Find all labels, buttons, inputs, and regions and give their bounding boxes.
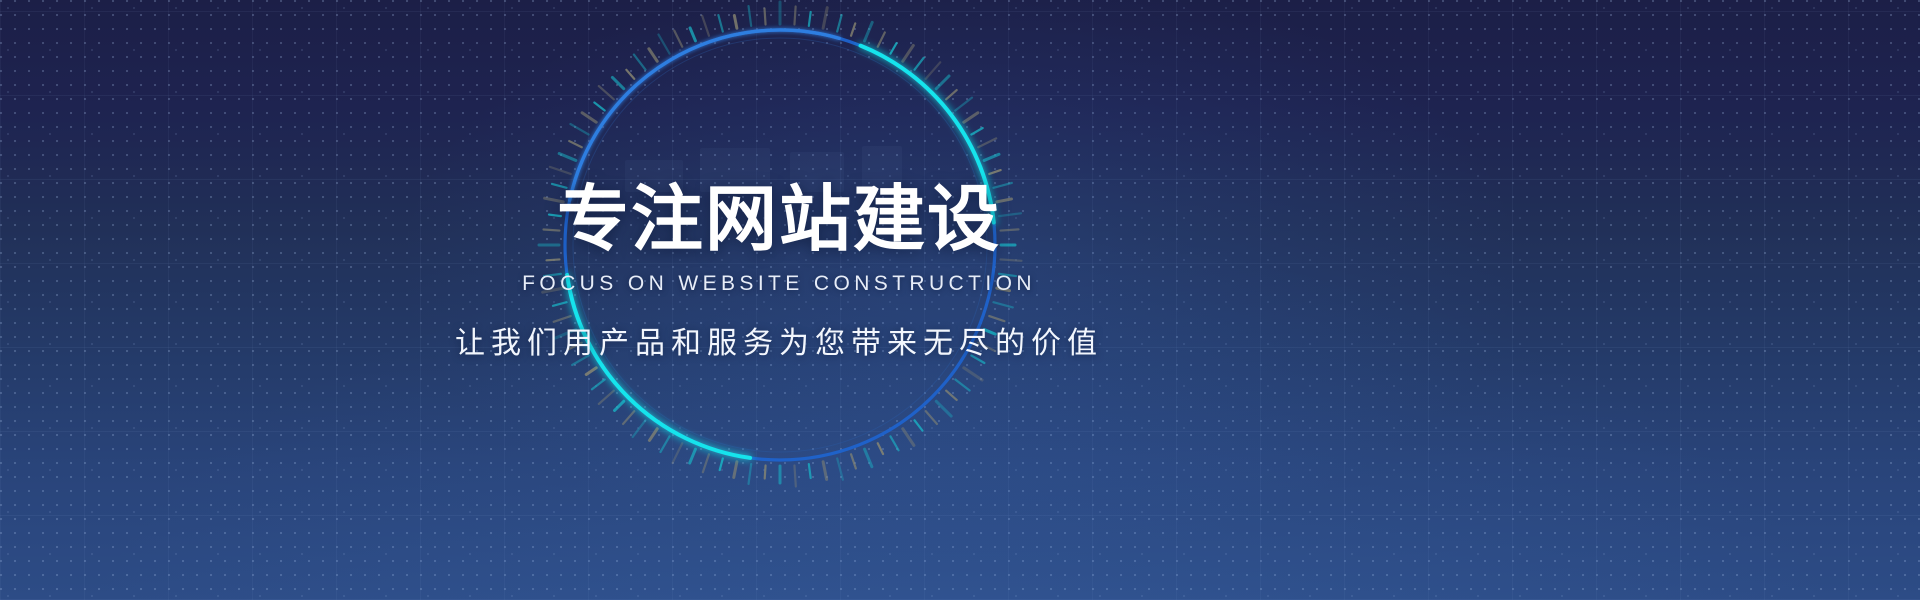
hero-copy: 专注网站建设 FOCUS ON WEBSITE CONSTRUCTION 让我们… [0, 0, 1920, 600]
page-subtitle: FOCUS ON WEBSITE CONSTRUCTION [455, 272, 1103, 296]
page-tagline: 让我们用产品和服务为您带来无尽的价值 [455, 318, 1103, 362]
hero-banner: 专注网站建设 FOCUS ON WEBSITE CONSTRUCTION 让我们… [0, 0, 1920, 600]
page-title: 专注网站建设 [455, 183, 1103, 255]
